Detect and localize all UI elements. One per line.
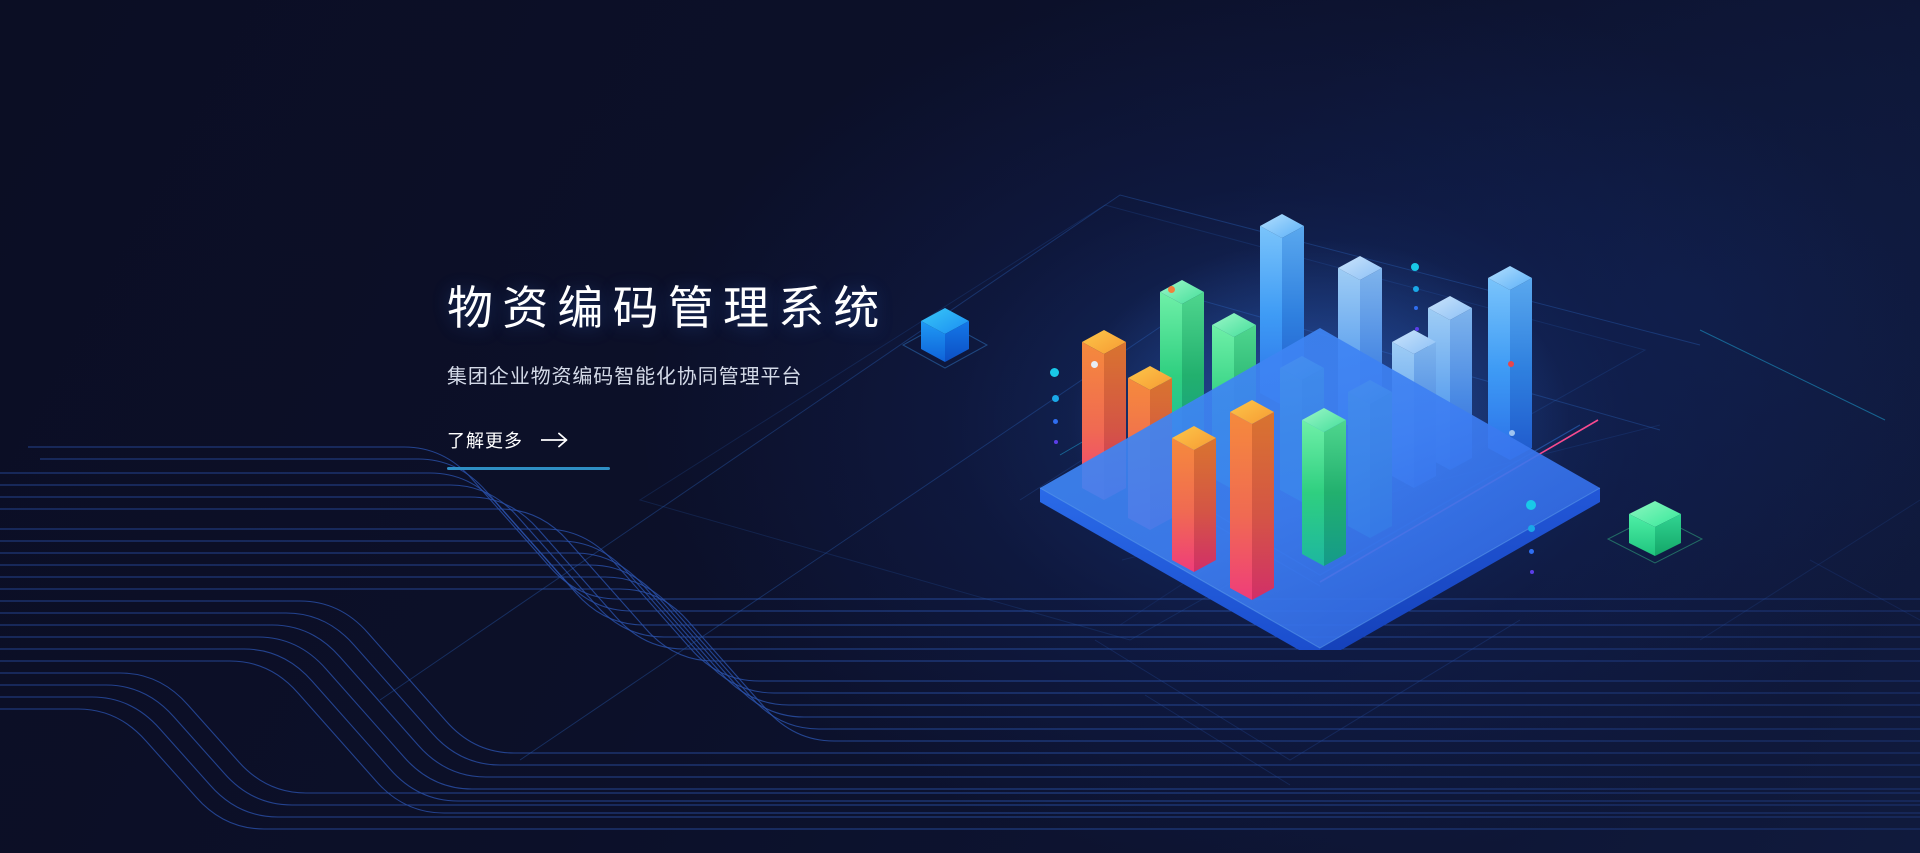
bar-12 [1302, 408, 1346, 566]
learn-more-button[interactable]: 了解更多 [447, 427, 610, 470]
arrow-right-icon [541, 432, 571, 448]
bar-6 [1230, 400, 1274, 600]
learn-more-row: 了解更多 [447, 427, 571, 453]
isometric-3d-bar-chart [1020, 170, 1640, 650]
learn-more-underline [447, 467, 610, 470]
hero-banner: 物资编码管理系统 集团企业物资编码智能化协同管理平台 了解更多 [0, 0, 1920, 853]
learn-more-label: 了解更多 [447, 427, 523, 453]
bar-5 [1172, 426, 1216, 572]
blue-cube-icon [900, 300, 990, 386]
